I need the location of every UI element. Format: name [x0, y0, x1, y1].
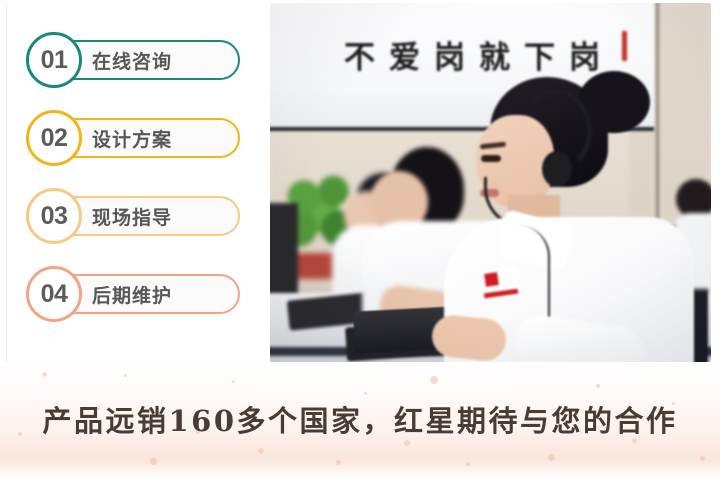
- step-circle-04: 04: [26, 266, 82, 322]
- step-item-02[interactable]: 设计方案 02: [14, 110, 250, 166]
- step-label-03: 现场指导: [92, 196, 232, 236]
- call-center-photo: 不 爱 岗 就 下 岗: [270, 3, 711, 362]
- left-edge-divider: [6, 4, 7, 384]
- step-number-01: 01: [41, 48, 68, 73]
- bottom-tagline-banner: 产品远销160多个国家，红星期待与您的合作: [0, 362, 720, 480]
- step-item-03[interactable]: 现场指导 03: [14, 188, 250, 244]
- step-label-02: 设计方案: [92, 118, 232, 158]
- banner-bottom-fade: [0, 464, 720, 480]
- step-item-01[interactable]: 在线咨询 01: [14, 32, 250, 88]
- step-label-04: 后期维护: [92, 274, 232, 314]
- step-item-04[interactable]: 后期维护 04: [14, 266, 250, 322]
- upper-white-area: 在线咨询 01 设计方案 02 现场指导 03: [0, 0, 720, 393]
- photo-vignette: [270, 3, 711, 362]
- step-circle-03: 03: [26, 188, 82, 244]
- promo-graphic: 在线咨询 01 设计方案 02 现场指导 03: [0, 0, 720, 480]
- step-number-04: 04: [41, 282, 68, 307]
- step-circle-01: 01: [26, 32, 82, 88]
- step-number-02: 02: [41, 126, 68, 151]
- step-circle-02: 02: [26, 110, 82, 166]
- process-steps-list: 在线咨询 01 设计方案 02 现场指导 03: [14, 32, 250, 344]
- step-number-03: 03: [41, 204, 68, 229]
- step-label-01: 在线咨询: [92, 40, 232, 80]
- tagline-text: 产品远销160多个国家，红星期待与您的合作: [0, 388, 720, 450]
